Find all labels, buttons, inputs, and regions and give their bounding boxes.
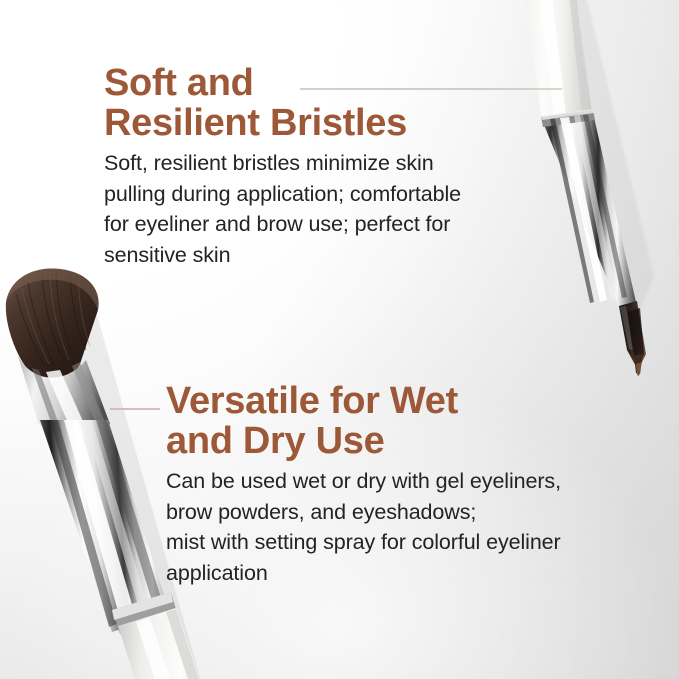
feature-body-2: Can be used wet or dry with gel eyeliner… — [166, 466, 636, 588]
feature-block-soft-resilient-bristles: Soft and Resilient Bristles Soft, resili… — [104, 63, 554, 270]
infographic-canvas: Soft and Resilient Bristles Soft, resili… — [0, 0, 679, 679]
feature-headline-1: Soft and Resilient Bristles — [104, 63, 554, 143]
feature-headline-2: Versatile for Wet and Dry Use — [166, 381, 636, 461]
feature-block-versatile-wet-dry: Versatile for Wet and Dry Use Can be use… — [166, 381, 636, 588]
headline-rule-left — [110, 408, 160, 410]
feature-body-1: Soft, resilient bristles minimize skin p… — [104, 148, 554, 270]
